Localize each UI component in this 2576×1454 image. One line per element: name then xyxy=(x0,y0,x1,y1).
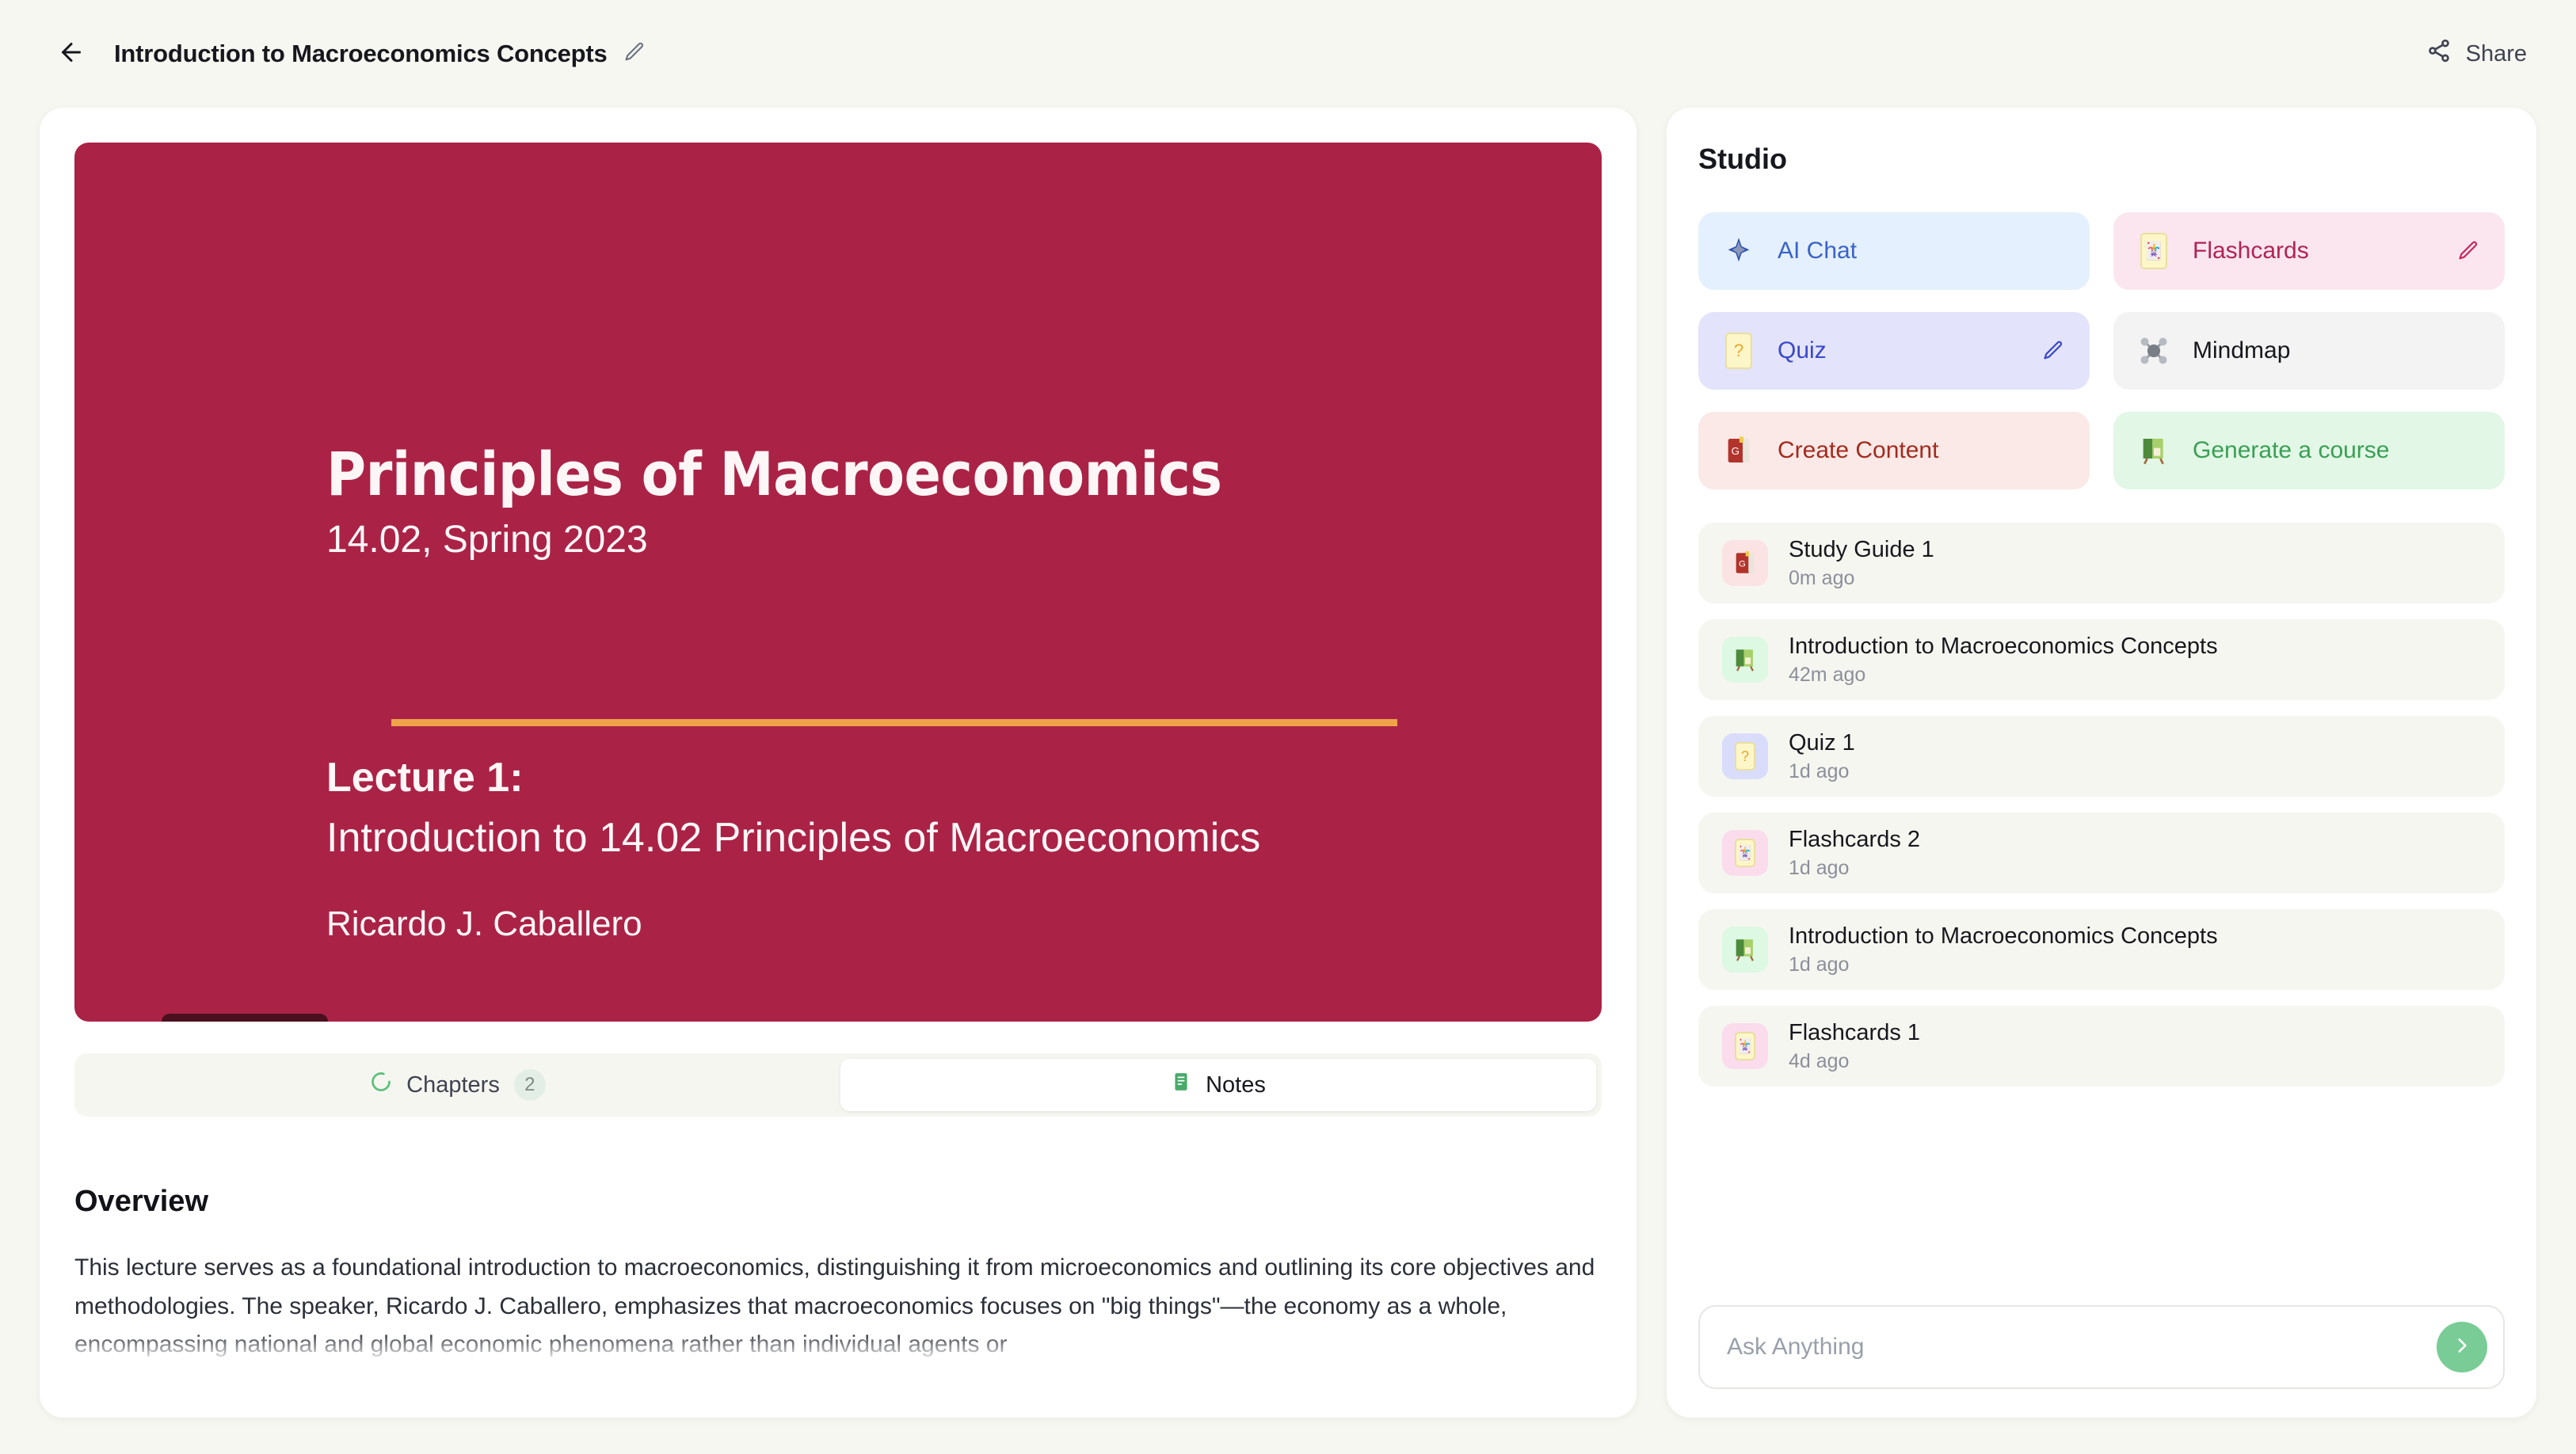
easel-icon xyxy=(2136,432,2172,469)
pencil-icon xyxy=(623,41,646,67)
list-item-time: 1d ago xyxy=(1789,759,1855,783)
overview-text: This lecture serves as a foundational in… xyxy=(74,1249,1602,1365)
studio-action-create-content[interactable]: G Create Content xyxy=(1698,412,2090,489)
list-item-title: Flashcards 2 xyxy=(1789,826,1920,854)
arrow-left-icon xyxy=(57,38,86,70)
slide-author: Ricardo J. Caballero xyxy=(326,904,642,944)
edit-title-button[interactable] xyxy=(623,41,646,67)
content-tabs: Chapters 2 Notes xyxy=(74,1053,1602,1117)
chevron-right-icon xyxy=(2452,1335,2472,1360)
ask-anything-area: Ask Anything xyxy=(1698,1277,2505,1389)
slide-lecture-title: Introduction to 14.02 Principles of Macr… xyxy=(326,814,1260,862)
notes-icon xyxy=(1171,1071,1191,1099)
list-item[interactable]: Introduction to Macroeconomics Concepts … xyxy=(1698,909,2505,990)
share-button[interactable]: Share xyxy=(2426,38,2527,70)
slide-divider xyxy=(391,719,1397,726)
list-item-time: 1d ago xyxy=(1789,953,2218,976)
studio-action-label: Quiz xyxy=(1778,337,1827,364)
tab-chapters-badge: 2 xyxy=(514,1069,546,1101)
list-item-title: Flashcards 1 xyxy=(1789,1019,1920,1047)
back-button[interactable] xyxy=(49,32,93,76)
overview-heading: Overview xyxy=(74,1185,1602,1219)
page-title: Introduction to Macroeconomics Concepts xyxy=(114,40,608,68)
studio-action-mindmap[interactable]: Mindmap xyxy=(2113,312,2505,390)
list-item-title: Quiz 1 xyxy=(1789,729,1855,757)
list-item[interactable]: 🃏 Flashcards 2 1d ago xyxy=(1698,813,2505,893)
studio-action-ai-chat[interactable]: AI Chat xyxy=(1698,212,2090,290)
list-item-time: 42m ago xyxy=(1789,663,2218,687)
studio-action-quiz[interactable]: ? Quiz xyxy=(1698,312,2090,390)
slide-subtitle: 14.02, Spring 2023 xyxy=(326,518,648,561)
ask-anything-placeholder: Ask Anything xyxy=(1727,1334,1864,1361)
list-item-title: Introduction to Macroeconomics Concepts xyxy=(1789,633,2218,660)
quiz-icon: ? xyxy=(1722,733,1768,779)
studio-action-label: Flashcards xyxy=(2193,238,2309,265)
top-bar: Introduction to Macroeconomics Concepts … xyxy=(0,0,2576,108)
book-icon: G xyxy=(1721,432,1757,469)
studio-action-label: Create Content xyxy=(1778,437,1938,464)
content-area: Principles of Macroeconomics 14.02, Spri… xyxy=(0,108,2576,1454)
more-videos-tooltip[interactable]: MORE VIDEOS xyxy=(162,1014,328,1022)
studio-panel: Studio AI Chat 🃏 Flashcards ? Q xyxy=(1667,108,2536,1418)
svg-text:G: G xyxy=(1732,445,1740,457)
edit-flashcards-button[interactable] xyxy=(2457,240,2479,262)
studio-action-label: Generate a course xyxy=(2193,437,2389,464)
flashcard-icon: 🃏 xyxy=(1722,830,1768,876)
slide-lecture-label: Lecture 1: xyxy=(326,754,524,801)
flashcard-icon: 🃏 xyxy=(1722,1023,1768,1069)
studio-heading: Studio xyxy=(1698,143,2505,176)
sparkle-icon xyxy=(1721,233,1757,269)
easel-icon xyxy=(1722,927,1768,973)
slide-inner: Principles of Macroeconomics 14.02, Spri… xyxy=(74,143,1602,1022)
studio-action-label: Mindmap xyxy=(2193,337,2290,364)
studio-action-generate-course[interactable]: Generate a course xyxy=(2113,412,2505,489)
flashcard-icon: 🃏 xyxy=(2136,233,2172,269)
share-icon xyxy=(2426,38,2452,70)
quiz-icon: ? xyxy=(1721,333,1757,369)
tab-chapters-label: Chapters xyxy=(406,1072,500,1098)
book-icon: G xyxy=(1722,540,1768,586)
studio-actions: AI Chat 🃏 Flashcards ? Quiz xyxy=(1698,212,2505,489)
list-item[interactable]: 🃏 Flashcards 1 4d ago xyxy=(1698,1006,2505,1087)
list-item-time: 4d ago xyxy=(1789,1049,1920,1073)
list-item-title: Introduction to Macroeconomics Concepts xyxy=(1789,923,2218,950)
svg-text:G: G xyxy=(1739,559,1746,569)
share-label: Share xyxy=(2466,41,2527,67)
list-item[interactable]: ? Quiz 1 1d ago xyxy=(1698,716,2505,797)
list-item[interactable]: Introduction to Macroeconomics Concepts … xyxy=(1698,619,2505,700)
studio-item-list: G Study Guide 1 0m ago In xyxy=(1698,523,2505,1087)
edit-quiz-button[interactable] xyxy=(2042,340,2064,362)
tab-chapters[interactable]: Chapters 2 xyxy=(80,1059,836,1111)
loading-spinner-icon xyxy=(370,1071,392,1099)
list-item[interactable]: G Study Guide 1 0m ago xyxy=(1698,523,2505,603)
tab-notes-label: Notes xyxy=(1206,1072,1266,1098)
easel-icon xyxy=(1722,637,1768,683)
tab-notes[interactable]: Notes xyxy=(840,1059,1596,1111)
send-button[interactable] xyxy=(2437,1322,2487,1372)
list-item-time: 0m ago xyxy=(1789,566,1934,590)
studio-action-label: AI Chat xyxy=(1778,238,1857,265)
slide-title: Principles of Macroeconomics xyxy=(326,439,1222,509)
mindmap-icon xyxy=(2136,333,2172,369)
video-slide[interactable]: Principles of Macroeconomics 14.02, Spri… xyxy=(74,143,1602,1022)
video-card: Principles of Macroeconomics 14.02, Spri… xyxy=(40,108,1637,1418)
list-item-time: 1d ago xyxy=(1789,856,1920,880)
ask-anything-input[interactable]: Ask Anything xyxy=(1698,1305,2505,1389)
list-item-title: Study Guide 1 xyxy=(1789,536,1934,564)
studio-action-flashcards[interactable]: 🃏 Flashcards xyxy=(2113,212,2505,290)
